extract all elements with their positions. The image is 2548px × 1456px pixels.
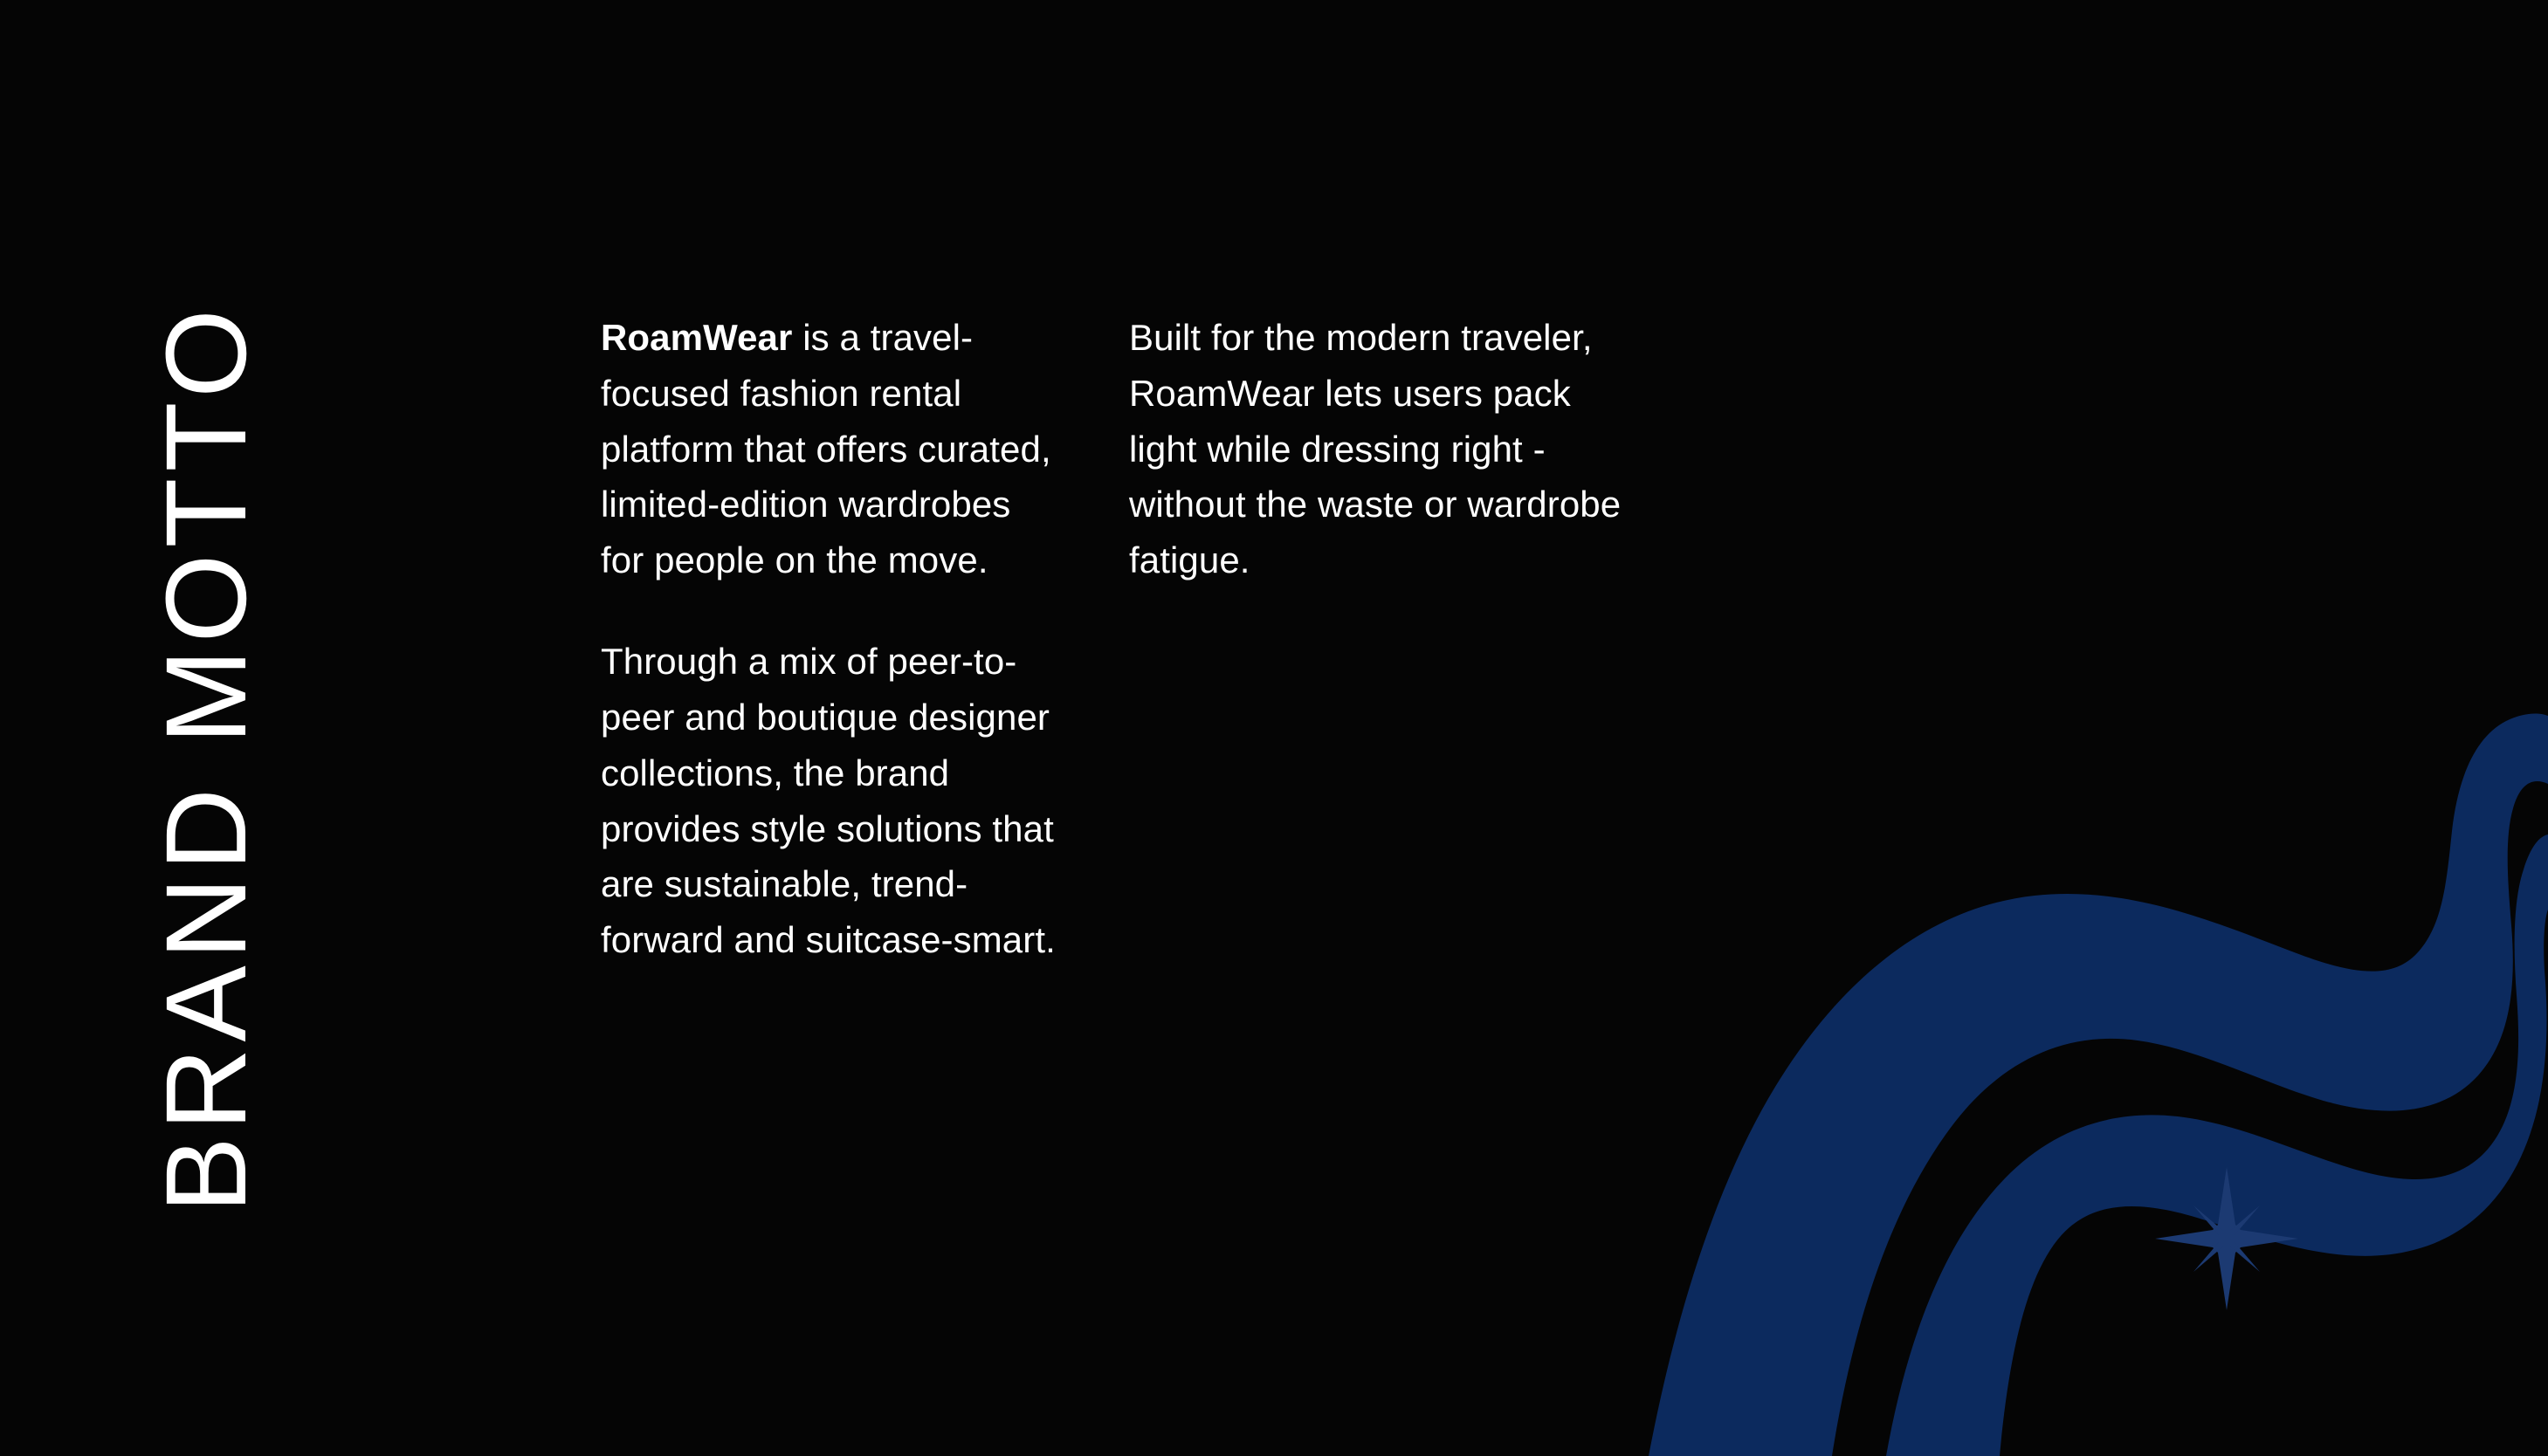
wave-ribbon-inner — [1886, 834, 2548, 1456]
brand-name-emphasis: RoamWear — [601, 317, 792, 358]
paragraph-intro: RoamWear is a travel-focused fashion ren… — [601, 310, 1059, 588]
blue-wave-ribbons — [1624, 646, 2548, 1456]
copy-column-right: Built for the modern traveler, RoamWear … — [1129, 310, 1631, 588]
section-title: BRAND MOTTO — [148, 236, 410, 1213]
wave-svg — [1624, 646, 2548, 1456]
section-title-label: BRAND MOTTO — [148, 303, 263, 1213]
four-point-sparkle — [2155, 1167, 2298, 1310]
paragraph-traveler: Built for the modern traveler, RoamWear … — [1129, 310, 1631, 588]
copy-column-left: RoamWear is a travel-focused fashion ren… — [601, 310, 1129, 968]
wave-ribbon-outer — [1649, 714, 2548, 1456]
slide-canvas: BRAND MOTTO RoamWear is a travel-focused… — [0, 0, 2548, 1456]
four-point-sparkle-diagonals — [2193, 1205, 2260, 1272]
paragraph-collections: Through a mix of peer-to-peer and boutiq… — [601, 634, 1059, 968]
body-copy: RoamWear is a travel-focused fashion ren… — [601, 310, 1631, 968]
